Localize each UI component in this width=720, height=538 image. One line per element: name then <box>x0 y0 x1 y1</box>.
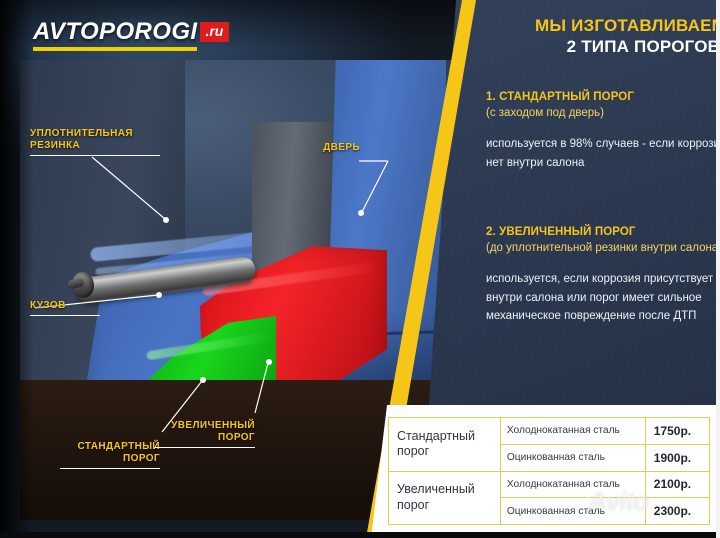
price-material: Оцинкованная сталь <box>500 444 645 471</box>
poster-root: УПЛОТНИТЕЛЬНАЯ РЕЗИНКА ДВЕРЬ КУЗОВ СТАНД… <box>0 0 720 538</box>
watermark-mark <box>586 492 603 509</box>
price-type-enlarged: Увеличенный порог <box>389 471 501 525</box>
label-body-text: КУЗОВ <box>30 300 100 316</box>
logo-underline <box>33 47 197 51</box>
price-value: 1750р. <box>645 418 709 445</box>
label-enlarged-line1: УВЕЛИЧЕННЫЙ <box>171 420 255 431</box>
price-type-standard: Стандартный порог <box>389 418 501 472</box>
logo-wordmark: AVTOPOROGI <box>33 20 197 51</box>
label-enlarged-sill: УВЕЛИЧЕННЫЙ ПОРОГ <box>155 420 255 448</box>
heading-line1: МЫ ИЗГОТАВЛИВАЕМ <box>480 16 720 36</box>
label-standard-line2: ПОРОГ <box>60 453 160 469</box>
table-row: Стандартный порог Холоднокатанная сталь … <box>389 418 710 445</box>
logo[interactable]: AVTOPOROGI .ru <box>33 20 229 51</box>
price-table: Стандартный порог Холоднокатанная сталь … <box>388 417 710 525</box>
label-seal-line2: РЕЗИНКА <box>30 140 160 156</box>
label-enlarged-line2: ПОРОГ <box>155 432 255 448</box>
label-door-text: ДВЕРЬ <box>323 142 360 153</box>
price-value: 2300р. <box>645 498 709 525</box>
heading-line2: 2 ТИПА ПОРОГОВ: <box>480 36 720 57</box>
section-enlarged: 2. УВЕЛИЧЕННЫЙ ПОРОГ (до уплотнительной … <box>486 225 720 325</box>
price-material: Оцинкованная сталь <box>500 498 645 525</box>
section-enlarged-body: используется, если коррозия присутствует… <box>486 270 720 324</box>
price-material: Холоднокатанная сталь <box>500 471 645 498</box>
label-standard-sill: СТАНДАРТНЫЙ ПОРОГ <box>60 441 160 469</box>
price-value: 1900р. <box>645 444 709 471</box>
label-door: ДВЕРЬ <box>300 142 360 154</box>
section-standard: 1. СТАНДАРТНЫЙ ПОРОГ (с заходом под двер… <box>486 90 720 172</box>
logo-text: AVTOPOROGI <box>33 20 197 44</box>
bottom-edge <box>0 532 720 538</box>
label-standard-line1: СТАНДАРТНЫЙ <box>78 441 161 452</box>
logo-tld-badge: .ru <box>200 22 229 42</box>
section-enlarged-title: 2. УВЕЛИЧЕННЫЙ ПОРОГ <box>486 225 720 241</box>
label-seal-line1: УПЛОТНИТЕЛЬНАЯ <box>30 128 133 139</box>
section-standard-subtitle: (с заходом под дверь) <box>486 106 720 122</box>
label-seal: УПЛОТНИТЕЛЬНАЯ РЕЗИНКА <box>30 128 160 156</box>
price-material: Холоднокатанная сталь <box>500 418 645 445</box>
table-row: Увеличенный порог Холоднокатанная сталь … <box>389 471 710 498</box>
section-enlarged-subtitle: (до уплотнительной резинки внутри салона… <box>486 241 720 257</box>
right-edge <box>716 0 720 538</box>
section-standard-body: используется в 98% случаев - если корроз… <box>486 135 720 171</box>
price-value: 2100р. <box>645 471 709 498</box>
section-standard-title: 1. СТАНДАРТНЫЙ ПОРОГ <box>486 90 720 106</box>
label-body: КУЗОВ <box>30 300 100 316</box>
poster-heading: МЫ ИЗГОТАВЛИВАЕМ 2 ТИПА ПОРОГОВ: <box>480 16 720 58</box>
